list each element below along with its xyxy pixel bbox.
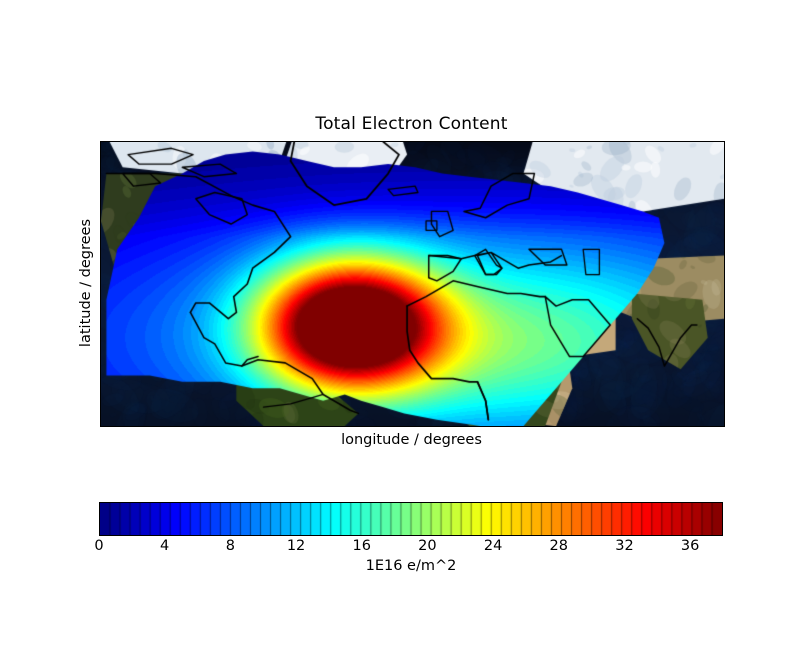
colorbar[interactable] — [99, 502, 723, 536]
colorbar-label: 1E16 e/m^2 — [99, 558, 723, 574]
page-title: Total Electron Content — [100, 114, 723, 134]
tec-heatmap-canvas — [101, 142, 724, 426]
colorbar-tick-36: 36 — [681, 538, 699, 554]
colorbar-tick-labels: 04812162024283236 — [0, 538, 800, 558]
colorbar-tick-24: 24 — [484, 538, 502, 554]
colorbar-tick-16: 16 — [353, 538, 371, 554]
y-axis-label: latitude / degrees — [78, 141, 94, 425]
colorbar-gradient — [100, 503, 722, 535]
colorbar-tick-12: 12 — [287, 538, 305, 554]
colorbar-tick-32: 32 — [615, 538, 633, 554]
x-axis-label: longitude / degrees — [100, 432, 723, 448]
colorbar-tick-28: 28 — [550, 538, 568, 554]
map-plot-area[interactable] — [100, 141, 725, 427]
colorbar-tick-4: 4 — [160, 538, 169, 554]
figure-canvas: Total Electron Content latitude / degree… — [0, 0, 800, 650]
colorbar-tick-8: 8 — [226, 538, 235, 554]
colorbar-tick-20: 20 — [418, 538, 436, 554]
colorbar-tick-0: 0 — [94, 538, 103, 554]
